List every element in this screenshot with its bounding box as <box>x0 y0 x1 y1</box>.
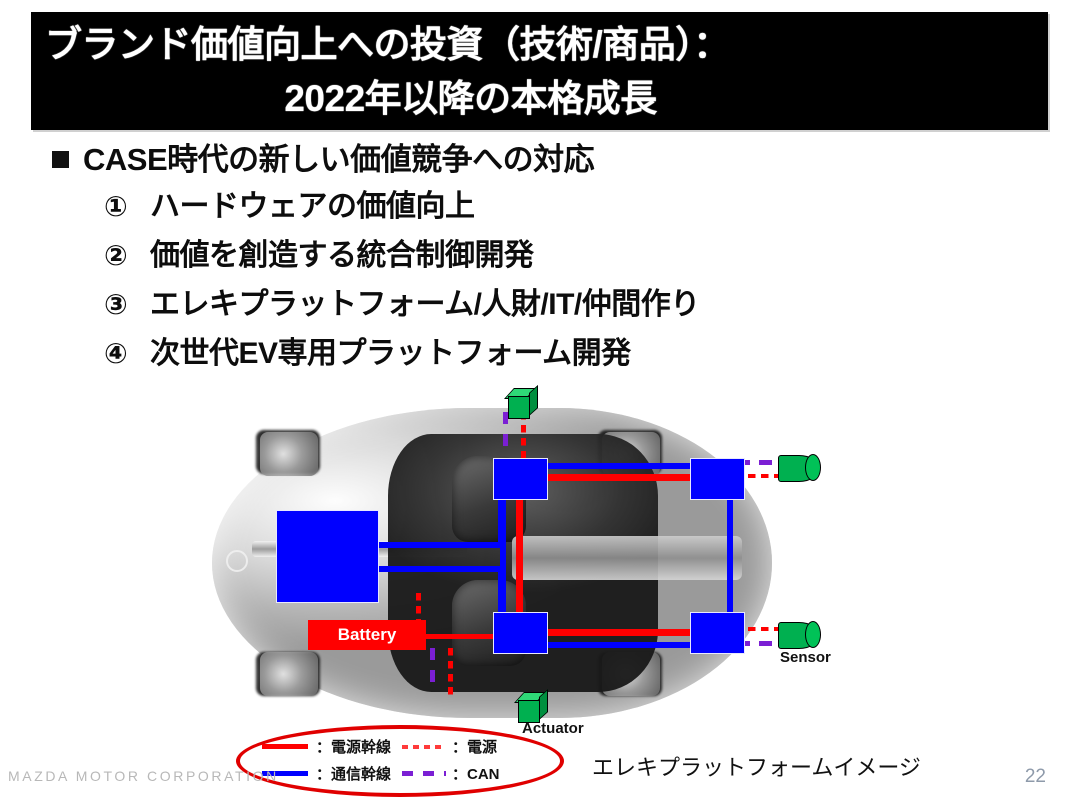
ecu-rear-left <box>493 612 548 654</box>
legend-label-power-trunk: ：電源幹線 <box>316 736 402 757</box>
actuator-bottom <box>518 692 546 722</box>
sub-item-3-number: ③ <box>104 280 150 329</box>
ecu-front-right <box>690 458 745 500</box>
comm-branch-upper <box>372 542 504 548</box>
comm-trunk-bottom <box>520 642 716 648</box>
center-tunnel <box>512 536 742 580</box>
bullet-main-label: CASE時代の新しい価値競争への対応 <box>83 138 594 182</box>
comm-trunk-top <box>520 463 716 469</box>
power-trunk-top <box>520 474 710 481</box>
power-trunk-bottom <box>520 629 710 636</box>
central-ecu-box <box>276 510 379 603</box>
sub-item-3-label: エレキプラットフォーム/人財/IT/仲間作り <box>150 280 700 329</box>
slide-title-line-1: ブランド価値向上への投資（技術/商品）： <box>45 18 1026 72</box>
legend: ：電源幹線 ：電源 ：通信幹線 ：CAN <box>262 736 544 784</box>
suspension-front-left <box>260 432 318 476</box>
sub-item-1-label: ハードウェアの価値向上 <box>150 182 475 231</box>
sub-item-2-label: 価値を創造する統合制御開発 <box>150 231 534 280</box>
bullet-list: CASE時代の新しい価値競争への対応 ① ハードウェアの価値向上 ② 価値を創造… <box>52 138 932 378</box>
comm-trunk-right-vertical <box>727 482 733 632</box>
sub-item-2-number: ② <box>104 231 150 280</box>
sub-item-4-number: ④ <box>104 329 150 378</box>
battery-label: Battery <box>308 620 426 650</box>
ecu-front-left <box>493 458 548 500</box>
sub-item-4: ④ 次世代EV専用プラットフォーム開発 <box>52 329 932 378</box>
sub-item-4-label: 次世代EV専用プラットフォーム開発 <box>150 329 631 378</box>
square-bullet-icon <box>52 151 69 168</box>
bullet-main-row: CASE時代の新しい価値競争への対応 <box>52 138 932 182</box>
power-line-bottom-actuator <box>448 648 453 696</box>
legend-label-comm-trunk: ：通信幹線 <box>316 763 402 784</box>
actuator-label: Actuator <box>522 720 584 737</box>
legend-swatch-can <box>402 771 446 776</box>
diagram-caption: エレキプラットフォームイメージ <box>592 750 921 782</box>
sensor-top-right <box>778 455 820 482</box>
sub-item-1-number: ① <box>104 182 150 231</box>
page-number: 22 <box>1025 766 1046 788</box>
actuator-front-face <box>508 396 530 419</box>
actuator-top <box>508 388 536 418</box>
legend-swatch-power-trunk <box>262 744 308 749</box>
legend-swatch-power <box>402 745 446 749</box>
sub-item-1: ① ハードウェアの価値向上 <box>52 182 932 231</box>
sensor-label: Sensor <box>780 649 831 666</box>
sub-item-3: ③ エレキプラットフォーム/人財/IT/仲間作り <box>52 280 932 329</box>
footer-corporation: MAZDA MOTOR CORPORATION <box>8 768 279 784</box>
front-badge-icon <box>226 550 248 572</box>
slide-title-line-2: 2022年以降の本格成長 <box>45 72 1026 126</box>
legend-label-power: ：電源 <box>452 736 514 757</box>
ecu-rear-right <box>690 612 745 654</box>
comm-branch-lower <box>372 566 504 572</box>
legend-label-can: ：CAN <box>452 763 514 784</box>
suspension-rear-left <box>260 652 318 696</box>
sub-item-2: ② 価値を創造する統合制御開発 <box>52 231 932 280</box>
sensor-bottom-right <box>778 622 820 649</box>
comm-branch-upper-riser <box>498 500 504 546</box>
slide-title-bar: ブランド価値向上への投資（技術/商品）： 2022年以降の本格成長 <box>31 12 1048 130</box>
can-line-bottom-actuator <box>430 648 435 692</box>
